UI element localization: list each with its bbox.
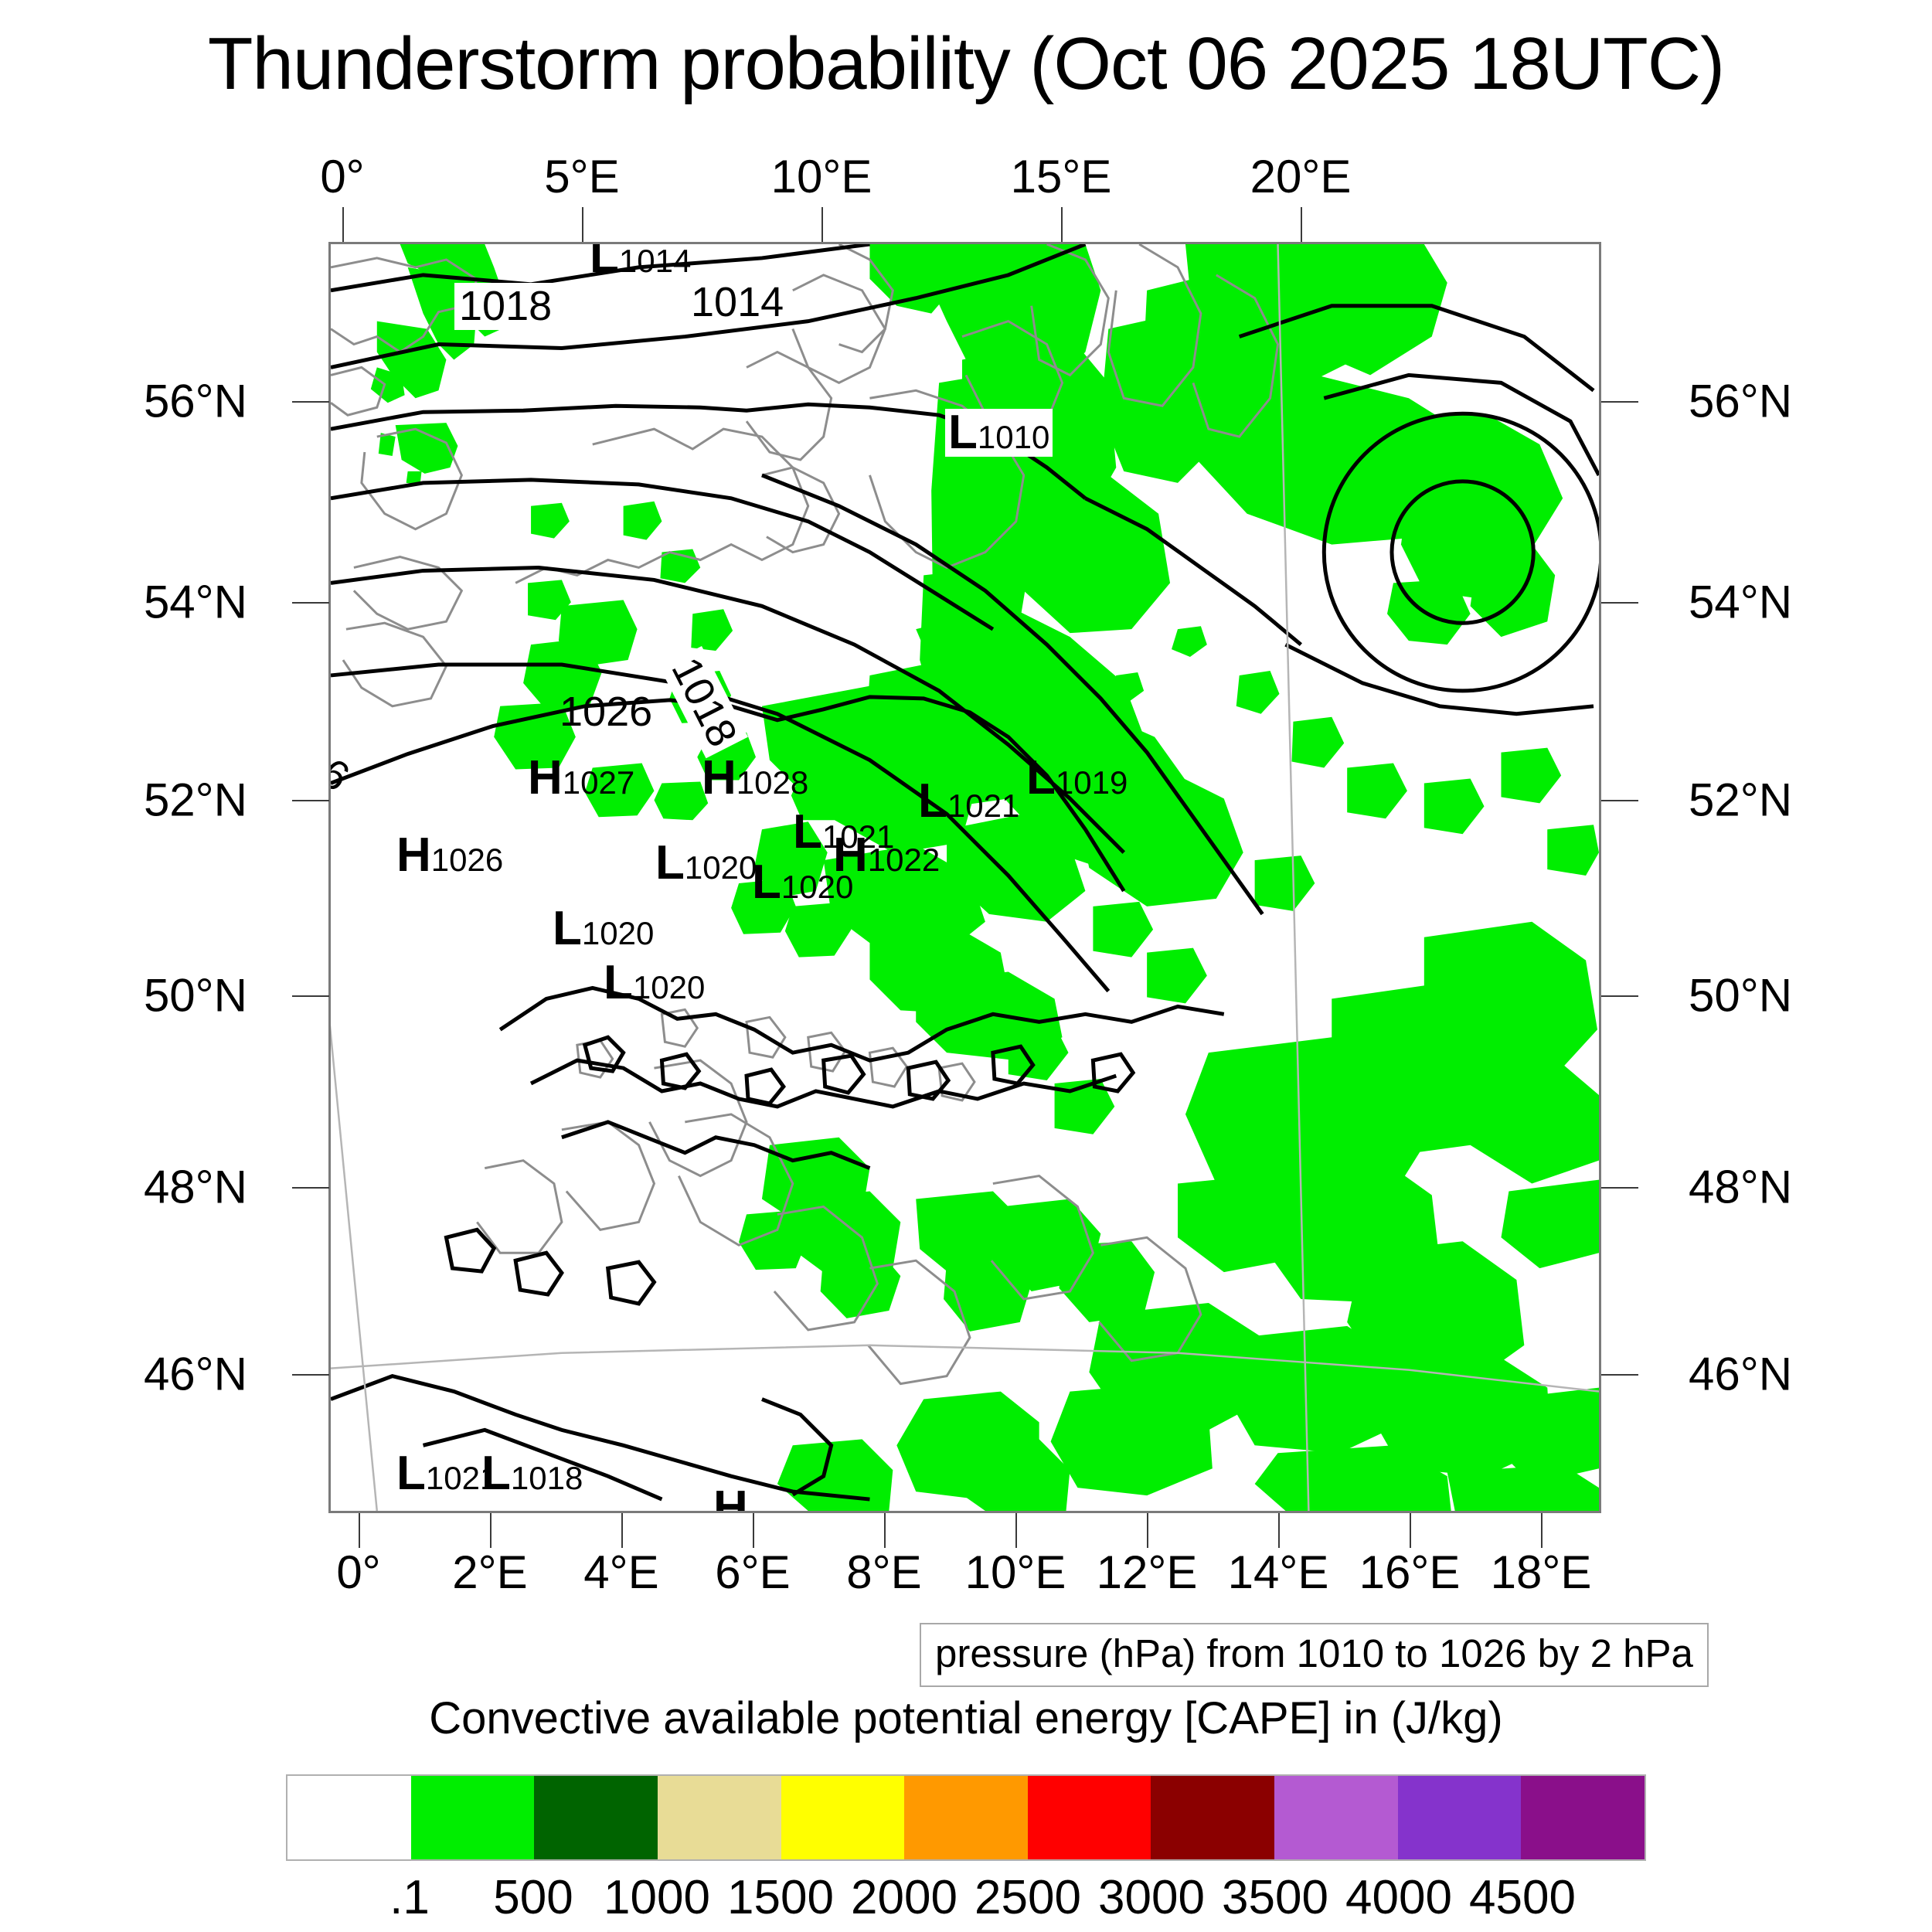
lon-label-bottom-18: 18°E	[1491, 1546, 1592, 1599]
lat-tick-left-46	[292, 1374, 329, 1376]
lon-tick-bottom-10	[1015, 1513, 1017, 1548]
lon-tick-bottom-16	[1410, 1513, 1411, 1548]
lon-label-bottom-12: 12°E	[1097, 1546, 1198, 1599]
lat-label-right-54: 54°N	[1689, 576, 1792, 629]
colorbar-swatch-10[interactable]	[1521, 1776, 1645, 1859]
lon-tick-bottom-4	[621, 1513, 623, 1548]
lat-tick-left-48	[292, 1187, 329, 1189]
lat-label-right-46: 46°N	[1689, 1348, 1792, 1401]
lon-tick-bottom-2	[490, 1513, 492, 1548]
lon-tick-bottom-14	[1278, 1513, 1280, 1548]
isobar-label-1014: 1014	[686, 279, 788, 326]
cb-label-7: 3500	[1222, 1870, 1328, 1925]
lon-tick-top-15	[1061, 207, 1063, 242]
high-center-1026: H1026	[396, 832, 503, 879]
colorbar-swatch-5[interactable]	[904, 1776, 1028, 1859]
isobar-label-1018-north: 1018	[454, 283, 556, 330]
lat-tick-right-50	[1601, 995, 1638, 997]
pressure-legend-box: pressure (hPa) from 1010 to 1026 by 2 hP…	[920, 1623, 1709, 1687]
colorbar-swatch-0[interactable]	[287, 1776, 411, 1859]
lat-tick-left-52	[292, 800, 329, 801]
lon-tick-bottom-6	[753, 1513, 754, 1548]
lat-label-right-50: 50°N	[1689, 969, 1792, 1022]
colorbar-swatch-4[interactable]	[781, 1776, 905, 1859]
cb-label-1: 500	[493, 1870, 573, 1925]
lon-tick-bottom-12	[1147, 1513, 1148, 1548]
low-center-1020-d: L1020	[752, 859, 853, 906]
cb-label-5: 2500	[975, 1870, 1081, 1925]
lat-label-left-52: 52°N	[144, 774, 247, 827]
low-center-1020-a: L1020	[655, 839, 757, 887]
lat-label-left-54: 54°N	[144, 576, 247, 629]
lat-tick-right-54	[1601, 602, 1638, 604]
low-center-1014: L1014	[590, 242, 691, 281]
lat-label-left-56: 56°N	[144, 375, 247, 428]
high-center-bottom-clipped: H	[713, 1485, 748, 1513]
lat-label-right-56: 56°N	[1689, 375, 1792, 428]
cb-label-8: 4000	[1345, 1870, 1452, 1925]
lon-tick-bottom-8	[884, 1513, 886, 1548]
lon-label-bottom-2: 2°E	[452, 1546, 527, 1599]
cb-label-4: 2000	[851, 1870, 957, 1925]
colorbar-swatch-2[interactable]	[534, 1776, 658, 1859]
lon-label-bottom-6: 6°E	[715, 1546, 790, 1599]
lon-label-top-15: 15°E	[1011, 150, 1112, 203]
lon-label-bottom-0: 0°	[336, 1546, 380, 1599]
lat-tick-right-52	[1601, 800, 1638, 801]
lon-label-bottom-10: 10°E	[965, 1546, 1066, 1599]
lon-tick-top-5	[582, 207, 583, 242]
cb-label-0: .1	[389, 1870, 430, 1925]
colorbar-swatch-3[interactable]	[658, 1776, 781, 1859]
lon-label-top-10: 10°E	[771, 150, 872, 203]
lon-label-top-0: 0°	[320, 150, 364, 203]
cape-colorbar[interactable]	[286, 1774, 1646, 1861]
low-center-1019: L1019	[1026, 754, 1128, 802]
colorbar-swatches[interactable]	[286, 1774, 1646, 1861]
lat-label-left-46: 46°N	[144, 1348, 247, 1401]
lon-tick-top-20	[1301, 207, 1302, 242]
lon-label-bottom-14: 14°E	[1228, 1546, 1329, 1599]
low-center-1018: L1018	[481, 1450, 583, 1498]
lat-tick-left-54	[292, 602, 329, 604]
lon-tick-bottom-18	[1541, 1513, 1543, 1548]
lon-label-bottom-4: 4°E	[583, 1546, 658, 1599]
cb-label-3: 1500	[727, 1870, 834, 1925]
lon-tick-bottom-0	[359, 1513, 360, 1548]
colorbar-swatch-6[interactable]	[1028, 1776, 1151, 1859]
map-plot-area[interactable]: 1014 1018 1018 1026 1026 L1014 L1010 H10…	[328, 242, 1601, 1513]
lat-label-left-48: 48°N	[144, 1161, 247, 1214]
lat-tick-left-56	[292, 401, 329, 403]
isobar-label-1026-center: 1026	[555, 689, 657, 736]
high-center-1028: H1028	[702, 754, 808, 802]
lon-label-bottom-16: 16°E	[1359, 1546, 1461, 1599]
lon-label-top-20: 20°E	[1250, 150, 1352, 203]
cb-label-9: 4500	[1469, 1870, 1576, 1925]
colorbar-swatch-8[interactable]	[1274, 1776, 1398, 1859]
low-center-1010: L1010	[945, 409, 1053, 457]
colorbar-tick-labels: .1 500 1000 1500 2000 2500 3000 3500 400…	[286, 1870, 1646, 1932]
colorbar-swatch-1[interactable]	[411, 1776, 535, 1859]
lon-label-top-5: 5°E	[544, 150, 619, 203]
colorbar-swatch-7[interactable]	[1151, 1776, 1274, 1859]
low-center-1020-b: L1020	[553, 905, 654, 953]
high-center-1027: H1027	[528, 754, 634, 802]
cb-label-6: 3000	[1098, 1870, 1205, 1925]
lat-label-right-52: 52°N	[1689, 774, 1792, 827]
lat-tick-right-48	[1601, 1187, 1638, 1189]
lon-tick-top-0	[342, 207, 344, 242]
cb-label-2: 1000	[604, 1870, 710, 1925]
low-center-1021-a: L1021	[918, 777, 1019, 825]
lon-label-bottom-8: 8°E	[846, 1546, 921, 1599]
page-title: Thunderstorm probability (Oct 06 2025 18…	[0, 22, 1932, 107]
lat-tick-right-56	[1601, 401, 1638, 403]
colorbar-swatch-9[interactable]	[1398, 1776, 1522, 1859]
lat-label-right-48: 48°N	[1689, 1161, 1792, 1214]
lat-label-left-50: 50°N	[144, 969, 247, 1022]
lon-tick-top-10	[821, 207, 823, 242]
lat-tick-right-46	[1601, 1374, 1638, 1376]
lat-tick-left-50	[292, 995, 329, 997]
colorbar-caption: Convective available potential energy [C…	[0, 1692, 1932, 1744]
low-center-1020-c: L1020	[604, 959, 705, 1007]
